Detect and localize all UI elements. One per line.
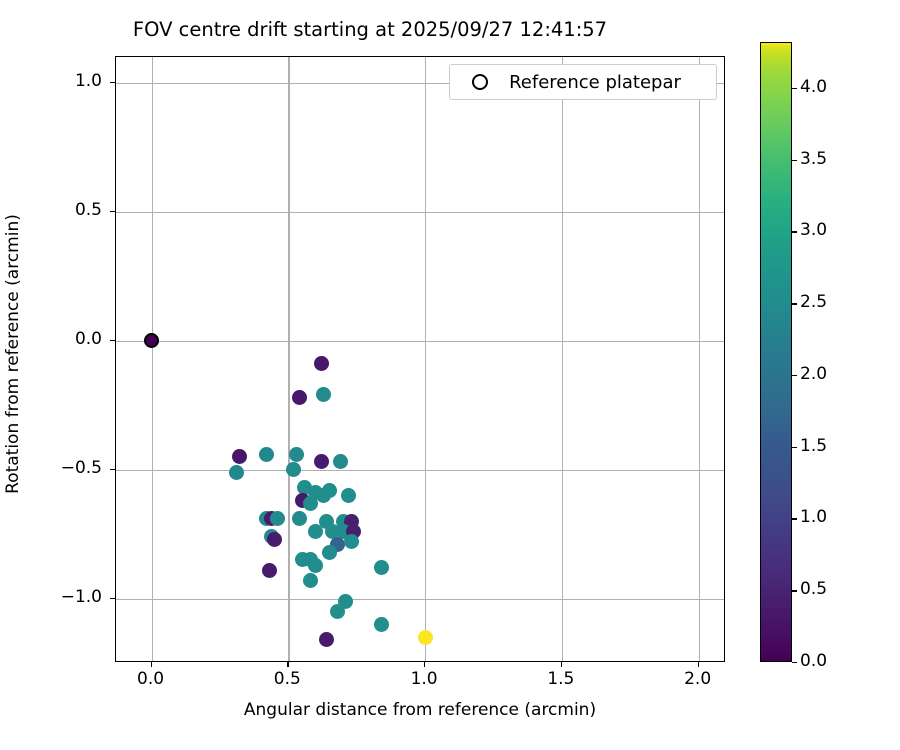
x-axis-tick — [698, 662, 699, 667]
colorbar-tick — [792, 662, 797, 663]
y-axis-tick-label: 0.5 — [18, 200, 102, 220]
scatter-point — [333, 454, 348, 469]
scatter-point — [289, 447, 304, 462]
scatter-point — [314, 454, 329, 469]
x-axis-tick-label: 2.0 — [663, 669, 733, 689]
scatter-point — [314, 356, 329, 371]
colorbar-tick-label: 1.0 — [800, 507, 827, 527]
scatter-point — [344, 534, 359, 549]
x-axis-tick-label: 1.5 — [526, 669, 596, 689]
scatter-point — [267, 532, 282, 547]
y-gridline — [116, 599, 724, 600]
colorbar-tick — [792, 590, 797, 591]
scatter-point — [303, 573, 318, 588]
y-axis-tick — [110, 598, 115, 599]
x-axis-label: Angular distance from reference (arcmin) — [115, 700, 725, 720]
scatter-point — [262, 563, 277, 578]
colorbar-tick-label: 4.0 — [800, 77, 827, 97]
scatter-point — [259, 447, 274, 462]
open-circle-icon — [472, 74, 488, 90]
figure-canvas: FOV centre drift starting at 2025/09/27 … — [0, 0, 900, 750]
x-gridline — [152, 57, 153, 661]
y-axis-tick-label: 0.0 — [18, 329, 102, 349]
scatter-point — [341, 488, 356, 503]
y-gridline — [116, 341, 724, 342]
x-gridline — [288, 57, 289, 661]
scatter-point — [308, 524, 323, 539]
scatter-point — [292, 511, 307, 526]
colorbar — [760, 42, 792, 662]
x-gridline — [425, 57, 426, 661]
scatter-point — [316, 488, 331, 503]
x-axis-tick-label: 0.0 — [116, 669, 186, 689]
scatter-point — [322, 545, 337, 560]
colorbar-tick — [792, 518, 797, 519]
y-axis-tick — [110, 340, 115, 341]
x-axis-tick-label: 0.5 — [252, 669, 322, 689]
colorbar-tick — [792, 231, 797, 232]
scatter-point — [292, 390, 307, 405]
colorbar-tick — [792, 375, 797, 376]
y-axis-tick-label: −1.0 — [18, 587, 102, 607]
colorbar-tick — [792, 303, 797, 304]
scatter-point — [286, 462, 301, 477]
y-axis-tick — [110, 82, 115, 83]
x-axis-tick-label: 1.0 — [389, 669, 459, 689]
colorbar-tick-label: 0.0 — [800, 651, 827, 671]
y-axis-tick-label: −0.5 — [18, 458, 102, 478]
reference-platepar-marker — [144, 333, 159, 348]
x-gridline — [699, 57, 700, 661]
x-axis-tick — [287, 662, 288, 667]
scatter-point — [270, 511, 285, 526]
scatter-point — [319, 632, 334, 647]
y-axis-tick — [110, 211, 115, 212]
scatter-point — [418, 630, 433, 645]
colorbar-tick — [792, 88, 797, 89]
y-gridline — [116, 212, 724, 213]
colorbar-tick-label: 1.5 — [800, 436, 827, 456]
x-gridline — [562, 57, 563, 661]
scatter-point — [303, 496, 318, 511]
colorbar-tick-label: 2.5 — [800, 292, 827, 312]
legend-label: Reference platepar — [488, 72, 716, 93]
scatter-point — [374, 560, 389, 575]
plot-axes — [115, 56, 725, 662]
scatter-point — [229, 465, 244, 480]
x-axis-tick — [561, 662, 562, 667]
y-axis-label: Rotation from reference (arcmin) — [3, 51, 23, 657]
x-axis-tick — [151, 662, 152, 667]
colorbar-tick-label: 3.0 — [800, 220, 827, 240]
y-gridline — [116, 470, 724, 471]
y-axis-tick — [110, 469, 115, 470]
page-title: FOV centre drift starting at 2025/09/27 … — [0, 18, 740, 41]
colorbar-tick — [792, 447, 797, 448]
scatter-point — [330, 604, 345, 619]
y-axis-tick-label: 1.0 — [18, 71, 102, 91]
scatter-point — [308, 558, 323, 573]
legend: Reference platepar — [449, 64, 717, 100]
x-axis-tick — [424, 662, 425, 667]
colorbar-tick-label: 2.0 — [800, 364, 827, 384]
scatter-point — [316, 387, 331, 402]
colorbar-tick-label: 0.5 — [800, 579, 827, 599]
scatter-point — [374, 617, 389, 632]
colorbar-tick — [792, 160, 797, 161]
colorbar-tick-label: 3.5 — [800, 149, 827, 169]
scatter-point — [232, 449, 247, 464]
